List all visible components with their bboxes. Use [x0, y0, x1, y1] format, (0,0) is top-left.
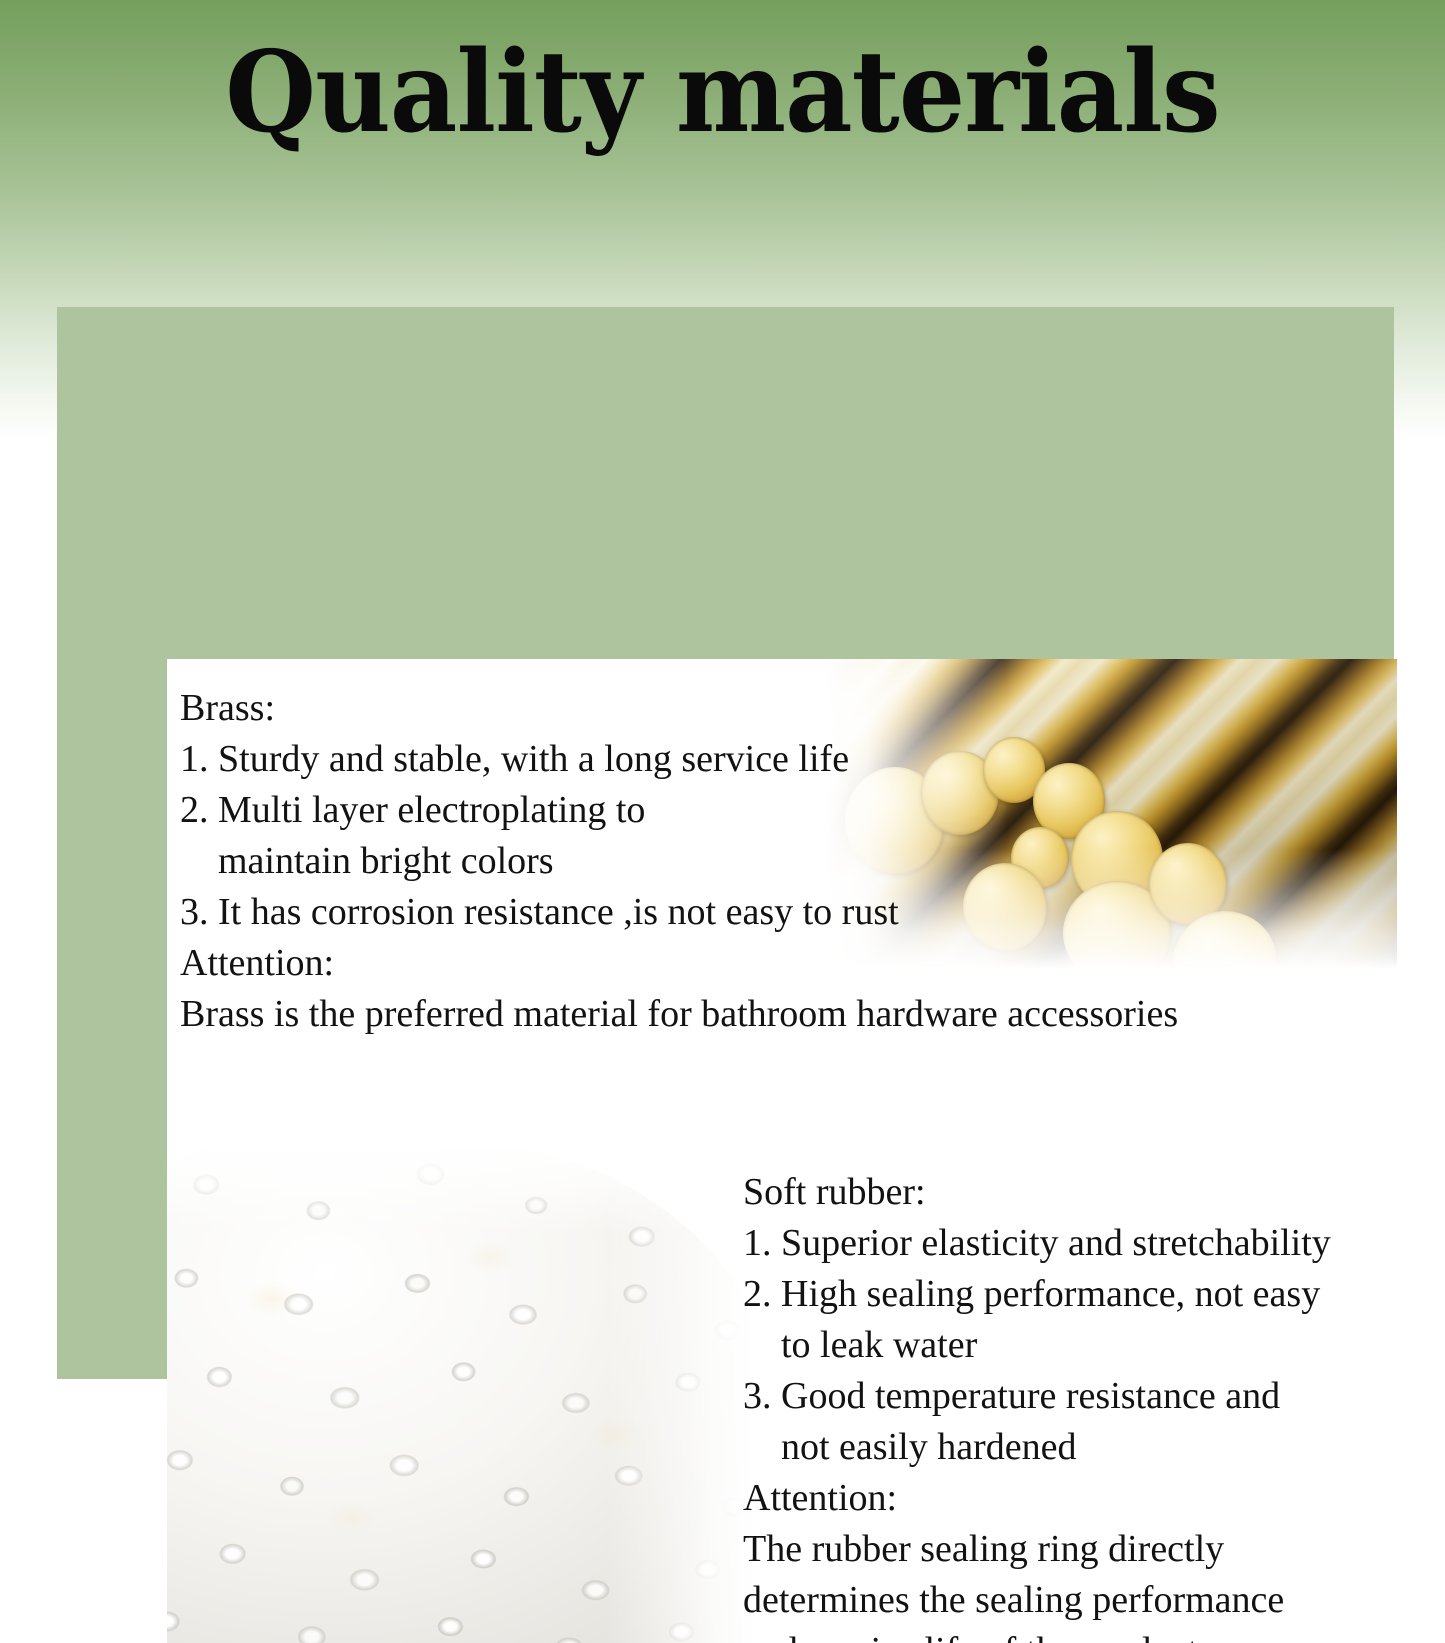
rubber-pellets-photo: [167, 1143, 755, 1643]
rubber-item-2: 2. High sealing performance, not easy: [743, 1273, 1320, 1315]
rubber-heading: Soft rubber:: [743, 1171, 926, 1213]
rubber-photo-right-feather: [605, 1143, 755, 1643]
brass-item-1: 1. Sturdy and stable, with a long servic…: [180, 738, 849, 780]
page-title: Quality materials: [51, 34, 1395, 152]
brass-item-3: 3. It has corrosion resistance ,is not e…: [180, 891, 899, 933]
rubber-attention-label: Attention:: [743, 1477, 897, 1519]
brass-text-block: Brass: 1. Sturdy and stable, with a long…: [180, 683, 1178, 1040]
rubber-attention-line-2: determines the sealing performance: [743, 1579, 1284, 1621]
brass-heading: Brass:: [180, 687, 275, 729]
rubber-item-1: 1. Superior elasticity and stretchabilit…: [743, 1222, 1331, 1264]
brass-attention-text: Brass is the preferred material for bath…: [180, 993, 1178, 1035]
rubber-item-3-cont: not easily hardened: [743, 1426, 1076, 1468]
brass-attention-label: Attention:: [180, 942, 334, 984]
brass-item-2-cont: maintain bright colors: [180, 840, 554, 882]
brass-item-2: 2. Multi layer electroplating to: [180, 789, 645, 831]
rubber-item-2-cont: to leak water: [743, 1324, 977, 1366]
content-frame: Brass: 1. Sturdy and stable, with a long…: [57, 307, 1394, 1379]
rubber-text-block: Soft rubber: 1. Superior elasticity and …: [743, 1167, 1331, 1643]
rubber-attention-line-1: The rubber sealing ring directly: [743, 1528, 1224, 1570]
rubber-attention-line-3: and service life of the product: [743, 1630, 1198, 1643]
rubber-item-3: 3. Good temperature resistance and: [743, 1375, 1280, 1417]
content-panel: Brass: 1. Sturdy and stable, with a long…: [167, 659, 1397, 1643]
